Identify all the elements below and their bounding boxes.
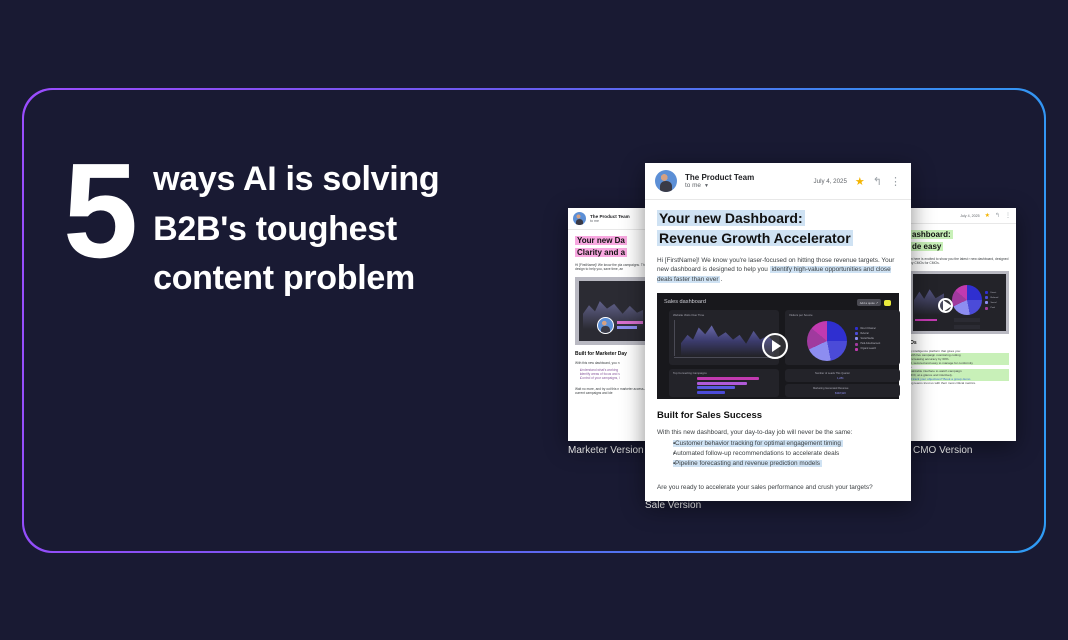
sale-bullets-intro: With this new dashboard, your day-to-day…	[657, 428, 899, 437]
cmo-date: July 4, 2025	[960, 214, 979, 218]
cmo-body: ashboard: de easy m here is excited to s…	[903, 224, 1016, 391]
email-body: Your new Dashboard: Revenue Growth Accel…	[645, 200, 911, 501]
dashboard-image[interactable]: Sales dashboard Add a quote ↗ Website Vi…	[657, 293, 899, 399]
sale-version-card[interactable]: The Product Team to me ▼ July 4, 2025 ★ …	[645, 163, 911, 501]
dashboard-badge-secondary[interactable]	[884, 300, 891, 306]
caption-marketer: Marketer Version	[568, 445, 644, 456]
legend-item: Social Media	[855, 337, 880, 340]
sale-title: Your new Dashboard: Revenue Growth Accel…	[657, 210, 899, 247]
email-date: July 4, 2025	[814, 178, 847, 185]
kpi-leads-value: 1,284	[837, 377, 844, 380]
email-header: The Product Team to me ▼ July 4, 2025 ★ …	[645, 163, 911, 200]
play-icon[interactable]	[762, 333, 788, 359]
panel-area-chart: Website Visits Over Time	[669, 310, 779, 365]
cmo-dashboard-image[interactable]: Direct Referral Social Paid	[910, 271, 1009, 334]
sale-title-line-1: Your new Dashboard:	[657, 210, 805, 226]
avatar	[573, 212, 586, 225]
sale-subheading: Built for Sales Success	[657, 410, 899, 421]
cmo-bullet-list: g intelligence platform that gives you: …	[910, 349, 1009, 385]
headline-line-3: content problem	[153, 254, 439, 304]
recipient-row[interactable]: to me ▼	[685, 182, 754, 189]
kpi-revenue-value: $348,920	[835, 392, 846, 395]
cmo-subheading: Os	[910, 340, 1009, 346]
legend-item: Paid Advertisement	[855, 343, 880, 346]
marketer-title-line-1: Your new Da	[575, 236, 627, 245]
legend-item: Direct Channel	[855, 327, 880, 330]
headline: 5 ways AI is solving B2B's toughest cont…	[63, 155, 439, 304]
kpi-leads-title: Number of Leads This Quarter	[815, 372, 850, 375]
panel-pie-title: Visitors per Source	[789, 313, 813, 317]
list-item: Customer behavior tracking for optimal e…	[667, 439, 899, 449]
cmo-pie-legend: Direct Referral Social Paid	[985, 291, 998, 310]
cmo-version-card[interactable]: July 4, 2025 ★ ↰ ⋮ ashboard: de easy m h…	[903, 208, 1016, 441]
more-vertical-icon[interactable]: ⋮	[890, 175, 901, 188]
more-vertical-icon[interactable]: ⋮	[1005, 212, 1011, 219]
headline-text: ways AI is solving B2B's toughest conten…	[153, 155, 439, 304]
star-icon[interactable]: ★	[985, 212, 990, 219]
pie-legend: Direct Channel Referral Social Media Pai…	[855, 327, 880, 351]
legend-item: Referral	[855, 332, 880, 335]
chevron-down-icon[interactable]: ▼	[704, 183, 709, 189]
recipient-label: to me	[685, 182, 701, 189]
sender-name: The Product Team	[685, 173, 754, 182]
sender-block: The Product Team to me ▼	[685, 173, 754, 189]
cmo-title: ashboard: de easy	[910, 230, 1009, 252]
list-item: ng teams trust us with their most critic…	[910, 381, 1009, 385]
reply-icon[interactable]: ↰	[995, 212, 1000, 219]
star-icon[interactable]: ★	[855, 175, 865, 188]
sale-bullet-list: Customer behavior tracking for optimal e…	[657, 439, 899, 469]
pie-chart	[807, 321, 847, 361]
caption-cmo: CMO Version	[913, 445, 972, 456]
recipient-label: to me	[590, 219, 630, 223]
cmo-email-header: July 4, 2025 ★ ↰ ⋮	[903, 208, 1016, 224]
sale-paragraph-b: .	[720, 276, 722, 283]
list-item: Pipeline forecasting and revenue predict…	[667, 459, 899, 469]
marketer-sender-block: The Product Team to me	[590, 214, 630, 223]
reply-icon[interactable]: ↰	[873, 175, 882, 188]
dashboard-badge-primary[interactable]: Add a quote ↗	[857, 299, 881, 306]
caption-sale: Sale Version	[645, 500, 701, 511]
panel-pie-chart: Visitors per Source Direct Channel Refer…	[785, 310, 900, 365]
cmo-paragraph: m here is excited to show you the latest…	[910, 257, 1009, 267]
headline-number: 5	[63, 149, 135, 273]
sale-closing: Are you ready to accelerate your sales p…	[657, 483, 899, 492]
panel-bar-title: Top Converting Campaigns	[673, 371, 707, 375]
cmo-title-line-2: de easy	[910, 242, 943, 251]
cmo-pie-chart	[952, 285, 982, 315]
cmo-title-line-1: ashboard:	[910, 230, 953, 239]
sale-paragraph: Hi [FirstName]! We know you're laser-foc…	[657, 256, 899, 284]
list-item: Automated follow-up recommendations to a…	[667, 449, 899, 459]
legend-item: Organic search	[855, 348, 880, 351]
sale-title-line-2: Revenue Growth Accelerator	[657, 230, 853, 246]
marketer-title-line-2: Clarity and a	[575, 248, 627, 257]
header-actions: July 4, 2025 ★ ↰ ⋮	[814, 175, 901, 188]
dashboard-badges[interactable]: Add a quote ↗	[857, 299, 891, 306]
panel-kpi-revenue: Marketing Generated Revenue $348,920	[785, 384, 900, 397]
play-icon[interactable]	[938, 298, 953, 313]
kpi-revenue-title: Marketing Generated Revenue	[813, 387, 848, 390]
panel-bar-chart: Top Converting Campaigns	[669, 369, 779, 397]
avatar	[655, 170, 677, 192]
panel-kpi-leads: Number of Leads This Quarter 1,284	[785, 369, 900, 382]
panel-area-title: Website Visits Over Time	[673, 313, 704, 317]
headline-line-2: B2B's toughest	[153, 205, 439, 255]
headline-line-1: ways AI is solving	[153, 155, 439, 205]
marketer-photo-avatar	[597, 317, 614, 334]
